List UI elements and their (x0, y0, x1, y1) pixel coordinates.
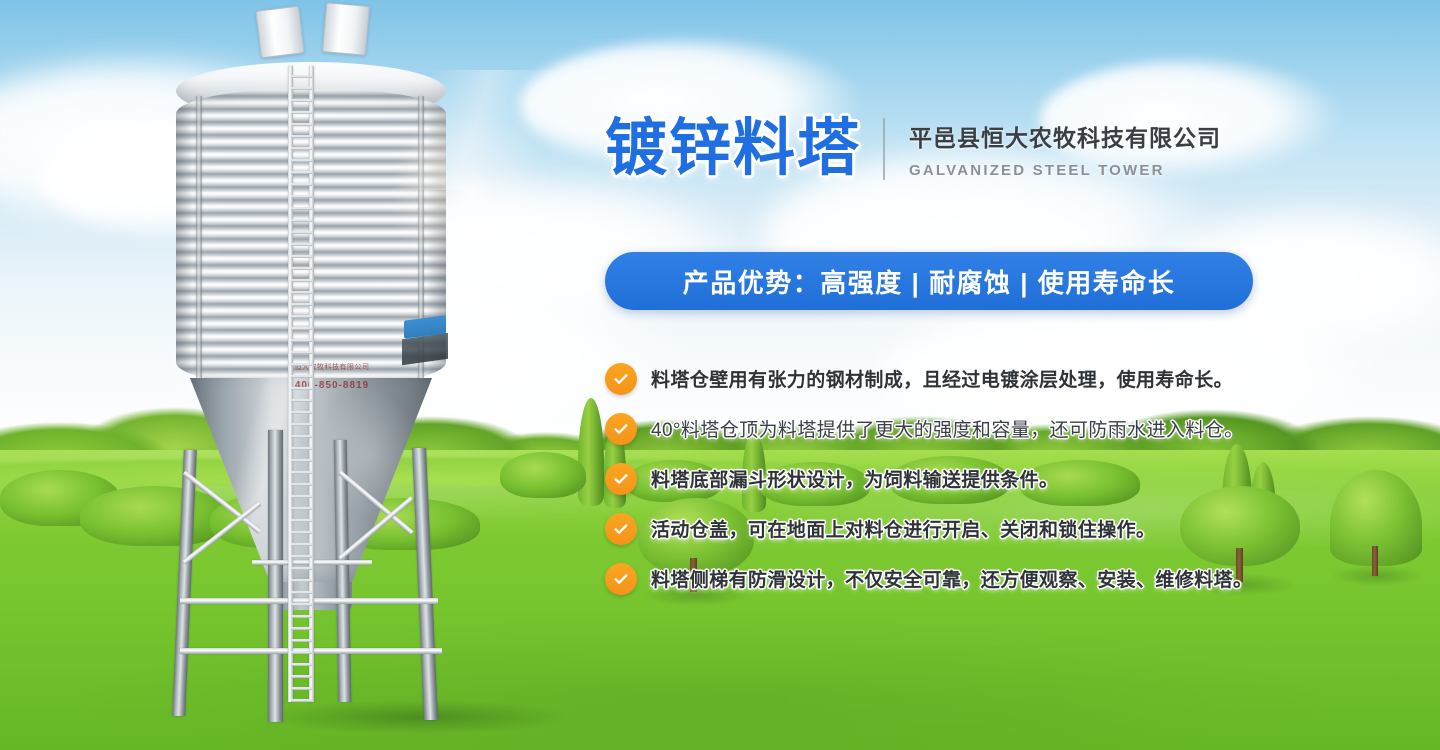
company-subtitle: GALVANIZED STEEL TOWER (909, 162, 1221, 179)
hero-copy-block: 镀锌料塔 平邑县恒大农牧科技有限公司 GALVANIZED STEEL TOWE… (605, 0, 1305, 750)
feature-text: 料塔底部漏斗形状设计，为饲料输送提供条件。 (651, 465, 1058, 492)
feature-item: 料塔侧梯有防滑设计，不仅安全可靠，还方便观察、安装、维修料塔。 (605, 558, 1305, 599)
page-title: 镀锌料塔 (605, 118, 861, 180)
silo-ground-shadow (268, 700, 568, 734)
silo-lid-flap (322, 2, 370, 56)
silo-lid-flap (255, 5, 305, 58)
feature-text: 料塔仓壁用有张力的钢材制成，且经过电镀涂层处理，使用寿命长。 (651, 365, 1233, 392)
check-circle-icon (605, 363, 637, 395)
feature-item: 活动仓盖，可在地面上对料仓进行开启、关闭和锁住操作。 (605, 508, 1305, 549)
silo-stiffener (196, 96, 202, 388)
company-name: 平邑县恒大农牧科技有限公司 (909, 119, 1221, 153)
galvanized-feed-silo: 恒大农牧科技有限公司 400-850-8819 (150, 0, 500, 740)
lawn-tree (1330, 470, 1422, 590)
silo-leg (412, 448, 438, 720)
feature-text: 料塔侧梯有防滑设计，不仅安全可靠，还方便观察、安装、维修料塔。 (651, 565, 1252, 592)
silo-leg (268, 430, 283, 722)
bush (500, 452, 586, 498)
feature-text: 40°料塔仓顶为料塔提供了更大的强度和容量，还可防雨水进入料仓。 (651, 415, 1244, 442)
headline-row: 镀锌料塔 平邑县恒大农牧科技有限公司 GALVANIZED STEEL TOWE… (605, 118, 1221, 180)
feature-item: 料塔仓壁用有张力的钢材制成，且经过电镀涂层处理，使用寿命长。 (605, 358, 1305, 399)
silo-leg (172, 450, 197, 716)
silo-cross-brace (182, 501, 261, 564)
feature-item: 40°料塔仓顶为料塔提供了更大的强度和容量，还可防雨水进入料仓。 (605, 408, 1305, 449)
product-hero-banner: 恒大农牧科技有限公司 400-850-8819 镀锌料塔 (0, 0, 1440, 750)
ladder-rungs (291, 66, 312, 702)
advantages-pill: 产品优势：高强度 | 耐腐蚀 | 使用寿命长 (605, 252, 1253, 310)
check-circle-icon (605, 563, 637, 595)
feature-text: 活动仓盖，可在地面上对料仓进行开启、关闭和锁住操作。 (651, 515, 1155, 542)
check-circle-icon (605, 463, 637, 495)
feature-item: 料塔底部漏斗形状设计，为饲料输送提供条件。 (605, 458, 1305, 499)
advantages-pill-text: 产品优势：高强度 | 耐腐蚀 | 使用寿命长 (683, 263, 1175, 300)
silo-side-ladder (288, 66, 314, 702)
check-circle-icon (605, 513, 637, 545)
check-circle-icon (605, 413, 637, 445)
title-divider (883, 118, 885, 180)
feature-list: 料塔仓壁用有张力的钢材制成，且经过电镀涂层处理，使用寿命长。 40°料塔仓顶为料… (605, 358, 1305, 608)
tree-trunk (1372, 546, 1378, 576)
company-block: 平邑县恒大农牧科技有限公司 GALVANIZED STEEL TOWER (909, 119, 1221, 179)
